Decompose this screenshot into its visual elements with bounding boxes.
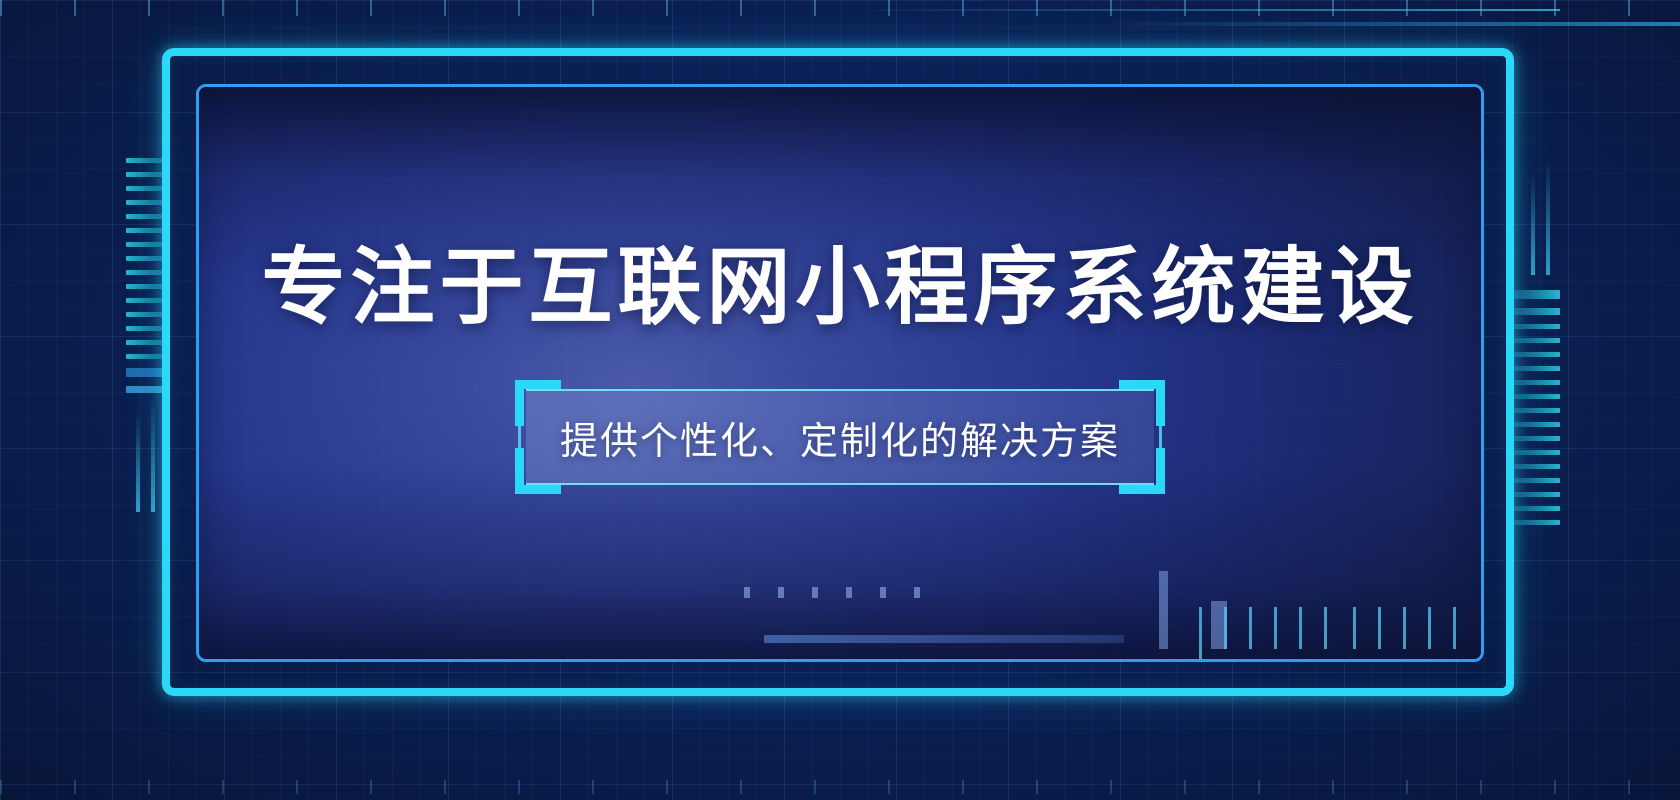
- left-vertical-bars: [136, 400, 166, 510]
- subtitle-plate: 提供个性化、定制化的解决方案: [526, 389, 1154, 485]
- banner-stage: 专注于互联网小程序系统建设 提供个性化、定制化的解决方案: [0, 0, 1680, 800]
- top-accent-rule-secondary: [1100, 22, 1680, 26]
- top-accent-rule: [840, 9, 1560, 11]
- bottom-tick-row: [0, 780, 1680, 794]
- top-tick-row: [0, 0, 1680, 16]
- subtitle-left-rule: [518, 395, 521, 479]
- banner-content: 专注于互联网小程序系统建设 提供个性化、定制化的解决方案: [196, 84, 1484, 662]
- subtitle-text: 提供个性化、定制化的解决方案: [560, 410, 1120, 465]
- subtitle-right-rule: [1159, 395, 1162, 479]
- page-title: 专注于互联网小程序系统建设: [261, 245, 1418, 329]
- right-dash-stack: [1514, 290, 1560, 534]
- left-dash-stack: [126, 158, 170, 402]
- right-vertical-bars: [1531, 160, 1550, 275]
- subtitle-block: 提供个性化、定制化的解决方案: [526, 389, 1154, 485]
